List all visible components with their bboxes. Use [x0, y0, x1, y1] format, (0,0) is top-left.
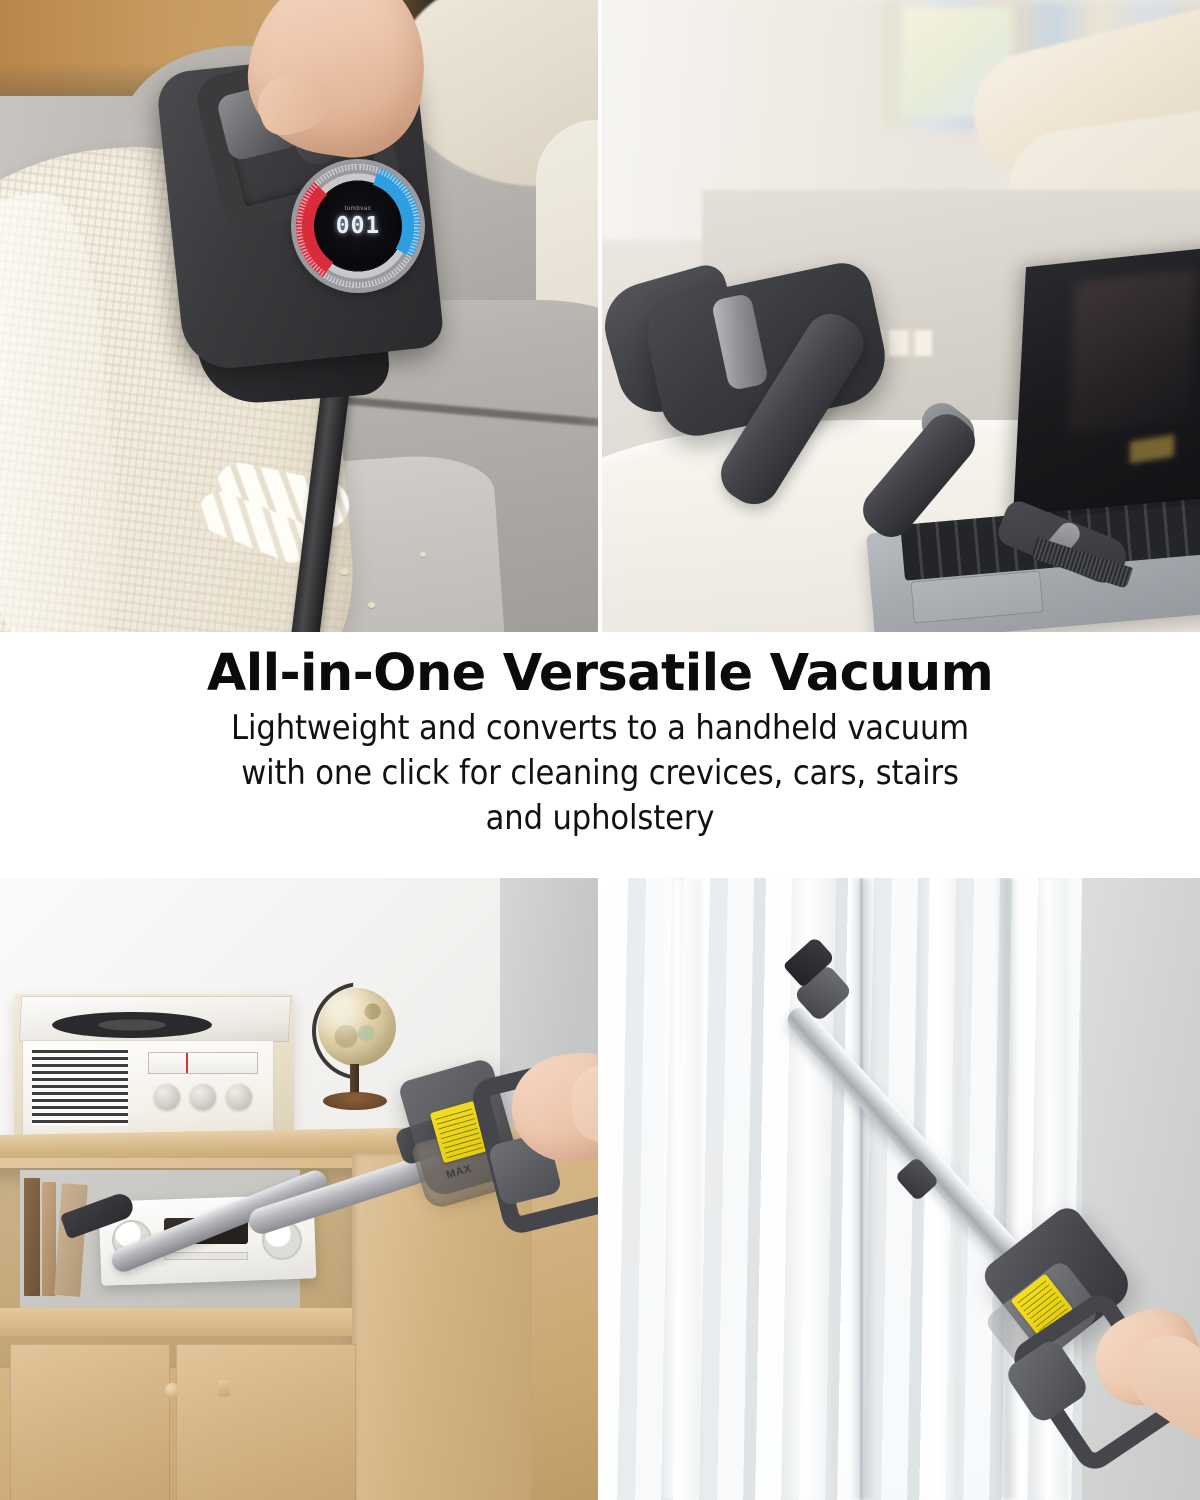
panel-laptop-keyboard-cleaning — [602, 0, 1200, 632]
curtain-fold — [656, 878, 702, 1500]
subtitle-line-2: with one click for cleaning crevices, ca… — [231, 751, 969, 796]
cabinet-door-knob — [165, 1383, 179, 1397]
curtain-panel-seam — [860, 878, 863, 1500]
panel-cabinet-crevice-cleaning: MAX — [0, 878, 598, 1500]
debris-crumb — [420, 552, 426, 557]
radio-knob — [154, 1084, 180, 1110]
cabinet-shelf-board — [0, 1308, 360, 1336]
speaker-grille — [32, 1050, 128, 1126]
bottom-image-band: MAX — [0, 878, 1200, 1500]
product-feature-card: tumbvac 001 — [0, 0, 1200, 1500]
debris-crumb — [368, 602, 375, 608]
cabinet-door-knob — [218, 1380, 230, 1397]
radio-tuner-scale — [148, 1052, 258, 1074]
page-title: All-in-One Versatile Vacuum — [207, 646, 993, 702]
led-display-dial: tumbvac 001 — [296, 164, 420, 288]
debris-crumb — [340, 568, 349, 575]
page-subtitle: Lightweight and converts to a handheld v… — [231, 706, 969, 841]
radio-knob — [190, 1084, 216, 1110]
book — [24, 1178, 40, 1296]
book — [42, 1182, 56, 1296]
globe-base — [323, 1092, 387, 1110]
display-brand-label: tumbvac — [314, 206, 402, 212]
panel-sofa-crevice-cleaning: tumbvac 001 — [0, 0, 598, 632]
cabinet-door-left — [10, 1344, 170, 1500]
laptop-screen-reflection — [1068, 269, 1196, 433]
subtitle-line-3: and upholstery — [231, 796, 969, 841]
curtain-shadow — [850, 878, 876, 1500]
text-content-band: All-in-One Versatile Vacuum Lightweight … — [0, 632, 1200, 878]
turntable-platter — [52, 1012, 212, 1038]
display-digits: 001 — [336, 213, 381, 239]
cabinet-door-right — [176, 1344, 356, 1500]
led-display-face: tumbvac 001 — [314, 182, 402, 270]
radio-knob — [226, 1084, 252, 1110]
subtitle-line-1: Lightweight and converts to a handheld v… — [231, 706, 969, 751]
top-image-band: tumbvac 001 — [0, 0, 1200, 632]
stereo-disc-slot — [164, 1252, 248, 1260]
panel-curtain-high-reach-cleaning — [602, 878, 1200, 1500]
curtain-shadow — [996, 878, 1018, 1500]
